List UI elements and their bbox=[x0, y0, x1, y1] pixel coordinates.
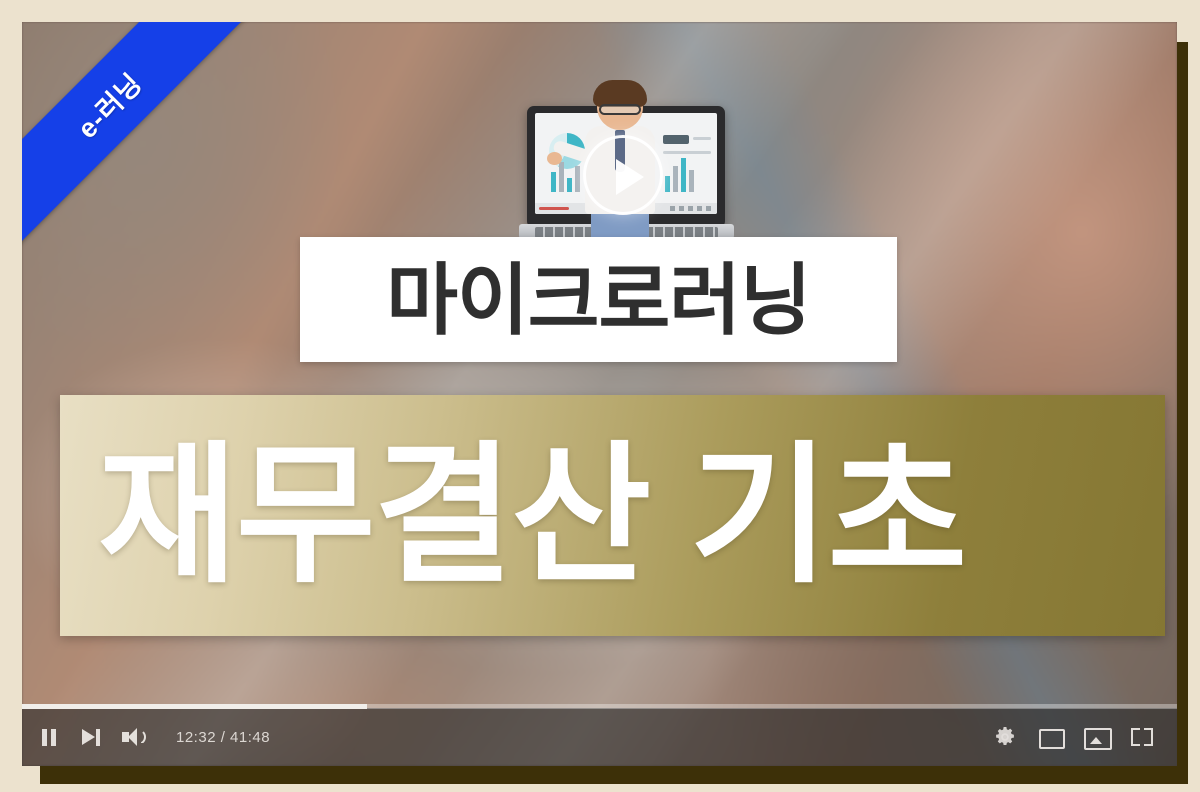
bar-chart-icon bbox=[567, 178, 572, 192]
chart-line bbox=[693, 137, 711, 140]
page-title: 재무결산 기초 bbox=[60, 440, 965, 592]
controls-right-group bbox=[993, 724, 1177, 750]
chart-block bbox=[663, 135, 689, 144]
bar-chart-icon bbox=[673, 166, 678, 192]
page-stage: 마이크로러닝 재무결산 기초 e-러닝 bbox=[0, 0, 1200, 792]
fullscreen-icon[interactable] bbox=[1129, 724, 1155, 750]
pause-icon[interactable] bbox=[36, 724, 62, 750]
bar-chart-icon bbox=[559, 162, 564, 192]
subtitle-box: 마이크로러닝 bbox=[300, 237, 897, 362]
bar-chart-icon bbox=[681, 158, 686, 192]
play-icon[interactable] bbox=[583, 135, 663, 215]
bar-chart-icon bbox=[551, 172, 556, 192]
volume-icon[interactable] bbox=[120, 724, 146, 750]
slide-footer-icons bbox=[670, 206, 712, 211]
ribbon-label: e-러닝 bbox=[67, 63, 150, 146]
video-player[interactable]: 마이크로러닝 재무결산 기초 e-러닝 bbox=[22, 22, 1177, 766]
controls-left-group: 12:32 / 41:48 bbox=[22, 724, 270, 750]
fullscreen-corner bbox=[1131, 728, 1140, 737]
chart-line bbox=[663, 151, 711, 154]
bar-chart-icon bbox=[665, 176, 670, 192]
ribbon-banner: e-러닝 bbox=[22, 22, 261, 257]
progress-bar[interactable] bbox=[22, 704, 1177, 709]
miniplayer-icon[interactable] bbox=[1037, 724, 1063, 750]
player-control-bar: 12:32 / 41:48 bbox=[22, 708, 1177, 766]
bar-chart-icon bbox=[689, 170, 694, 192]
bar-chart-icon bbox=[575, 166, 580, 192]
character-hair bbox=[593, 80, 647, 107]
time-display: 12:32 / 41:48 bbox=[176, 729, 270, 746]
next-track-icon[interactable] bbox=[78, 724, 104, 750]
theater-mode-icon[interactable] bbox=[1083, 724, 1109, 750]
fullscreen-corner bbox=[1144, 728, 1153, 737]
fullscreen-corner bbox=[1144, 737, 1153, 746]
slide-progress bbox=[539, 207, 569, 210]
volume-cone bbox=[128, 728, 137, 746]
corner-ribbon[interactable]: e-러닝 bbox=[22, 22, 300, 300]
character-hand bbox=[547, 152, 562, 165]
fullscreen-corner bbox=[1131, 737, 1140, 746]
progress-bar-fill bbox=[22, 704, 367, 709]
gear-icon[interactable] bbox=[993, 725, 1017, 749]
title-band: 재무결산 기초 bbox=[60, 395, 1165, 636]
volume-wave bbox=[137, 729, 146, 745]
character-glasses bbox=[599, 104, 641, 115]
subtitle-text: 마이크로러닝 bbox=[386, 261, 811, 339]
